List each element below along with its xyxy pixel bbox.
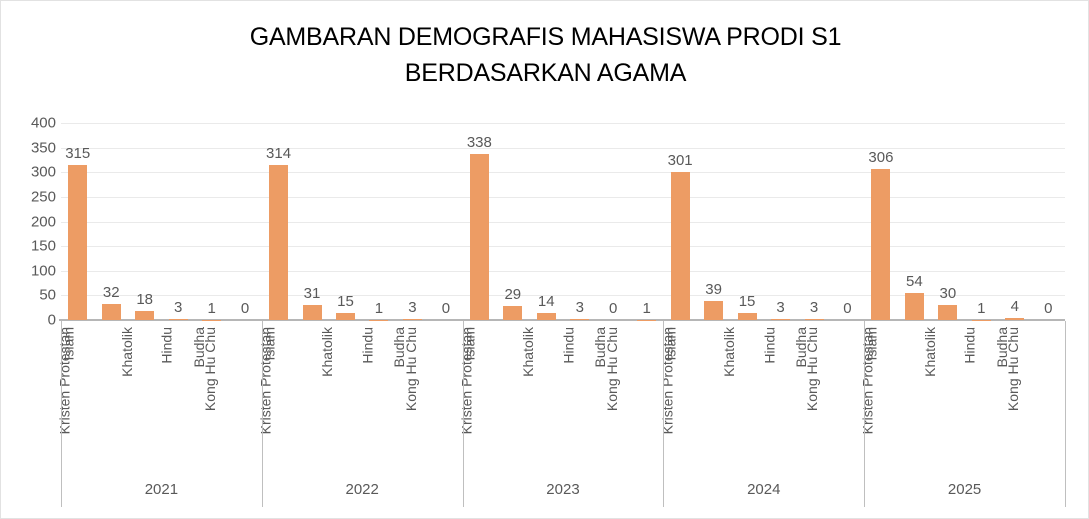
bar-slot: 15 — [730, 123, 763, 320]
category-axis-label: Hindu — [160, 327, 174, 364]
bar[interactable] — [503, 306, 522, 320]
bar[interactable] — [269, 165, 288, 320]
bar[interactable] — [135, 311, 154, 320]
category-axis-label: Kristen Protestan — [660, 327, 674, 434]
bar-value-label: 3 — [408, 300, 416, 316]
y-axis-tick-label: 50 — [10, 287, 56, 304]
y-axis-tick-label: 250 — [10, 188, 56, 205]
category-axis-label: Kristen Protestan — [258, 327, 272, 434]
bar-slot: 15 — [329, 123, 362, 320]
bar-slot: 0 — [831, 123, 864, 320]
bar-value-label: 14 — [538, 294, 555, 310]
category-slot: Khatolik — [730, 323, 763, 473]
bar-value-label: 30 — [940, 286, 957, 302]
bar-value-label: 29 — [504, 287, 521, 303]
year-label-row: 20212022202320242025 — [61, 473, 1065, 507]
bar-value-label: 54 — [906, 274, 923, 290]
bar-slot: 29 — [496, 123, 529, 320]
bar-slot: 54 — [898, 123, 931, 320]
bar-slot: 3 — [764, 123, 797, 320]
bar[interactable] — [336, 313, 355, 320]
category-axis-label: Kristen Protestan — [459, 327, 473, 434]
category-slot: Khatolik — [530, 323, 563, 473]
bar-slot: 1 — [965, 123, 998, 320]
category-slot: Khatolik — [128, 323, 161, 473]
bar-value-label: 31 — [304, 286, 321, 302]
bar-groups: 3153218310314311513033829143013013915330… — [61, 123, 1065, 320]
bar-slot: 3 — [396, 123, 429, 320]
category-axis-label: Kong Hu Chu — [1006, 327, 1020, 411]
bar-group-2021: 3153218310 — [61, 123, 262, 320]
category-group-2022: IslamKristen ProtestanKhatolikHinduBudha… — [262, 323, 463, 473]
bar-slot: 3 — [161, 123, 194, 320]
year-axis-label-2021: 2021 — [61, 473, 262, 507]
bar-value-label: 3 — [576, 300, 584, 316]
year-axis-label-2023: 2023 — [463, 473, 664, 507]
category-axis-label: Khatolik — [923, 327, 937, 377]
category-slot: Khatolik — [329, 323, 362, 473]
y-axis-tick-label: 100 — [10, 262, 56, 279]
bar-slot: 0 — [1032, 123, 1065, 320]
bar-value-label: 39 — [705, 282, 722, 298]
bar-slot: 338 — [463, 123, 496, 320]
bar-value-label: 1 — [643, 301, 651, 317]
year-axis-label-2024: 2024 — [663, 473, 864, 507]
y-axis-tick-label: 300 — [10, 164, 56, 181]
bar-slot: 315 — [61, 123, 94, 320]
category-group-2024: IslamKristen ProtestanKhatolikHinduBudha… — [663, 323, 864, 473]
bar-value-label: 301 — [668, 153, 693, 169]
bar-slot: 0 — [596, 123, 629, 320]
bar-slot: 18 — [128, 123, 161, 320]
bar[interactable] — [68, 165, 87, 320]
bar-value-label: 3 — [776, 300, 784, 316]
bar-value-label: 1 — [207, 301, 215, 317]
group-separator — [463, 321, 464, 507]
bar[interactable] — [905, 293, 924, 320]
category-axis-label: Kristen Protestan — [861, 327, 875, 434]
bar-value-label: 1 — [977, 301, 985, 317]
year-axis-label-2022: 2022 — [262, 473, 463, 507]
bar-value-label: 0 — [1044, 301, 1052, 317]
chart-container: GAMBARAN DEMOGRAFIS MAHASISWA PRODI S1 B… — [0, 0, 1089, 519]
bar-slot: 1 — [362, 123, 395, 320]
category-axis-label: Kong Hu Chu — [404, 327, 418, 411]
y-axis-tick-label: 350 — [10, 139, 56, 156]
bar[interactable] — [771, 319, 790, 320]
group-separator — [663, 321, 664, 507]
bar-slot: 0 — [429, 123, 462, 320]
bar-slot: 306 — [864, 123, 897, 320]
bar-value-label: 0 — [241, 301, 249, 317]
category-axis-label: Hindu — [762, 327, 776, 364]
bar-value-label: 0 — [843, 301, 851, 317]
category-axis-label: Hindu — [561, 327, 575, 364]
y-axis-tick-labels: 400350300250200150100500 — [1, 123, 56, 320]
bar[interactable] — [938, 305, 957, 320]
chart-title: GAMBARAN DEMOGRAFIS MAHASISWA PRODI S1 B… — [1, 19, 1089, 91]
bar-group-2024: 3013915330 — [663, 123, 864, 320]
category-slot: Khatolik — [931, 323, 964, 473]
group-separator — [262, 321, 263, 507]
bar[interactable] — [1005, 318, 1024, 320]
bar-value-label: 338 — [467, 135, 492, 151]
year-axis-label-2025: 2025 — [864, 473, 1065, 507]
y-axis-tick-label: 0 — [10, 312, 56, 329]
bar-slot: 3 — [797, 123, 830, 320]
bar-slot: 31 — [295, 123, 328, 320]
bar-value-label: 18 — [136, 292, 153, 308]
category-axis-label: Khatolik — [722, 327, 736, 377]
bar-value-label: 306 — [868, 150, 893, 166]
category-axis-label: Kristen Protestan — [58, 327, 72, 434]
bar[interactable] — [537, 313, 556, 320]
category-axis-label: Khatolik — [321, 327, 335, 377]
category-axis-label: Khatolik — [120, 327, 134, 377]
group-separator — [1065, 321, 1066, 507]
bar[interactable] — [403, 319, 422, 320]
bar-slot: 3 — [563, 123, 596, 320]
bar-slot: 1 — [630, 123, 663, 320]
bar[interactable] — [303, 305, 322, 320]
category-axis-label: Kong Hu Chu — [203, 327, 217, 411]
category-axis-label: Hindu — [963, 327, 977, 364]
bar-value-label: 3 — [810, 300, 818, 316]
bar-value-label: 0 — [442, 301, 450, 317]
category-axis-label: Kong Hu Chu — [605, 327, 619, 411]
category-slot: Kong Hu Chu — [1032, 323, 1065, 473]
bar[interactable] — [470, 154, 489, 320]
bar-slot: 4 — [998, 123, 1031, 320]
bar-group-2023: 3382914301 — [463, 123, 664, 320]
category-axis-label: Khatolik — [521, 327, 535, 377]
bar-value-label: 3 — [174, 300, 182, 316]
bar-slot: 1 — [195, 123, 228, 320]
bar-value-label: 315 — [65, 146, 90, 162]
bar-slot: 314 — [262, 123, 295, 320]
category-label-row: IslamKristen ProtestanKhatolikHinduBudha… — [61, 323, 1065, 473]
group-separator — [61, 321, 62, 507]
bar-group-2025: 3065430140 — [864, 123, 1065, 320]
bar-value-label: 15 — [739, 294, 756, 310]
bar[interactable] — [871, 169, 890, 320]
bar-slot: 30 — [931, 123, 964, 320]
y-axis-tick-label: 200 — [10, 213, 56, 230]
y-axis-tick-label: 150 — [10, 238, 56, 255]
bar[interactable] — [169, 319, 188, 320]
bar[interactable] — [704, 301, 723, 320]
y-axis-tick-label: 400 — [10, 115, 56, 132]
category-group-2025: IslamKristen ProtestanKhatolikHinduBudha… — [864, 323, 1065, 473]
bar-slot: 39 — [697, 123, 730, 320]
bar[interactable] — [738, 313, 757, 320]
bar-value-label: 0 — [609, 301, 617, 317]
bar[interactable] — [671, 172, 690, 320]
bar-slot: 32 — [94, 123, 127, 320]
group-separator — [864, 321, 865, 507]
bar-value-label: 32 — [103, 285, 120, 301]
bar-value-label: 15 — [337, 294, 354, 310]
bar-value-label: 4 — [1011, 299, 1019, 315]
category-group-2021: IslamKristen ProtestanKhatolikHinduBudha… — [61, 323, 262, 473]
bar-slot: 14 — [530, 123, 563, 320]
bar[interactable] — [805, 319, 824, 320]
bar-slot: 0 — [228, 123, 261, 320]
bar-slot: 301 — [663, 123, 696, 320]
category-axis-label: Hindu — [361, 327, 375, 364]
bar-value-label: 1 — [375, 301, 383, 317]
bar[interactable] — [102, 304, 121, 320]
bar-value-label: 314 — [266, 146, 291, 162]
category-group-2023: IslamKristen ProtestanKhatolikHinduBudha… — [463, 323, 664, 473]
bar[interactable] — [570, 319, 589, 320]
category-axis-label: Kong Hu Chu — [805, 327, 819, 411]
bar-group-2022: 3143115130 — [262, 123, 463, 320]
